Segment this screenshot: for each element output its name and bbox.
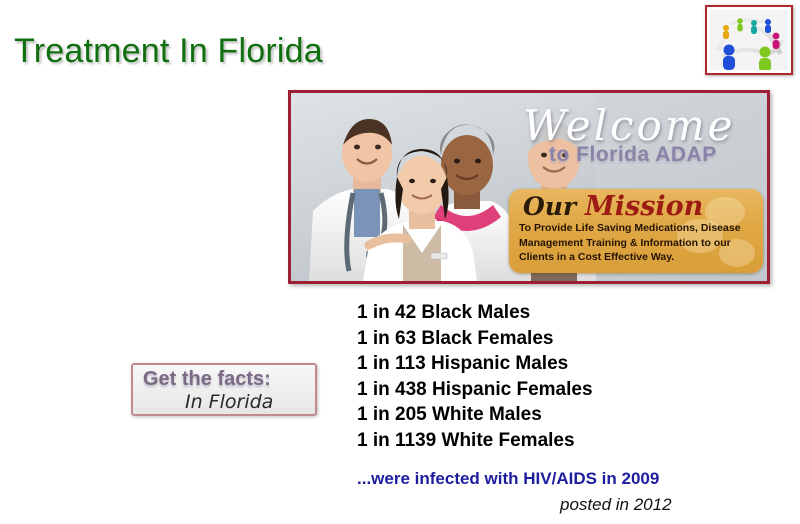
- florida-adap-banner: Welcome to Florida ADAP Our Mission To P…: [288, 90, 770, 284]
- list-item: 1 in 63 Black Females: [357, 326, 593, 352]
- our-mission-card: Our Mission To Provide Life Saving Medic…: [509, 189, 763, 273]
- get-the-facts-badge: Get the facts: In Florida: [131, 363, 317, 416]
- statistics-list: 1 in 42 Black Males 1 in 63 Black Female…: [357, 300, 593, 453]
- list-item: 1 in 1139 White Females: [357, 428, 593, 454]
- list-item: 1 in 205 White Males: [357, 402, 593, 428]
- list-item: 1 in 113 Hispanic Males: [357, 351, 593, 377]
- page-title: Treatment In Florida: [14, 32, 323, 71]
- logo-artwork: [710, 10, 788, 70]
- list-item: 1 in 438 Hispanic Females: [357, 377, 593, 403]
- list-item: 1 in 42 Black Males: [357, 300, 593, 326]
- people-network-logo: [705, 5, 793, 75]
- facts-badge-line2: In Florida: [185, 391, 273, 413]
- network-icon: [710, 10, 788, 70]
- mission-title: Our Mission: [523, 191, 703, 222]
- mission-title-mission: Mission: [585, 191, 703, 222]
- mission-body-text: To Provide Life Saving Medications, Dise…: [519, 221, 757, 265]
- banner-subtitle-text: to Florida ADAP: [549, 143, 717, 167]
- mission-title-our: Our: [523, 192, 585, 221]
- posted-date-text: posted in 2012: [560, 495, 672, 515]
- infected-summary-text: ...were infected with HIV/AIDS in 2009: [357, 469, 659, 489]
- facts-badge-line1: Get the facts:: [143, 368, 271, 391]
